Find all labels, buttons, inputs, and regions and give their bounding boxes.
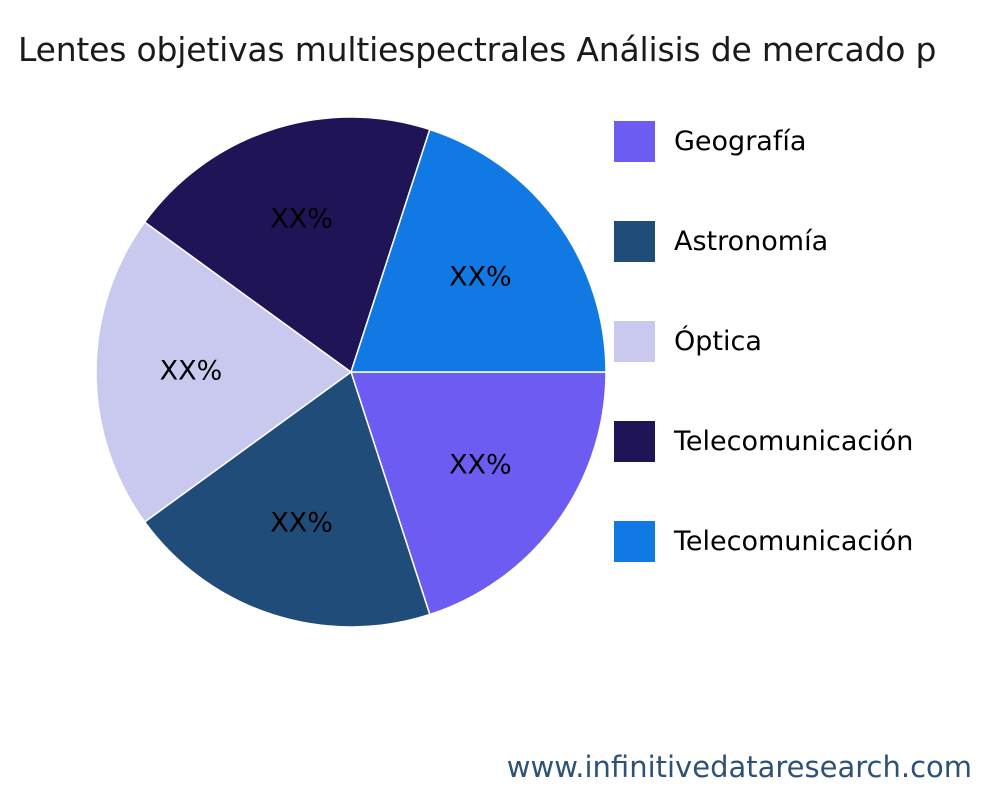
pie-slice-value-label: XX% bbox=[270, 508, 333, 539]
legend-item[interactable]: Telecomunicación bbox=[614, 421, 1000, 521]
pie-slice-value-label: XX% bbox=[270, 203, 333, 234]
legend-color-swatch bbox=[614, 321, 655, 362]
legend-item[interactable]: Óptica bbox=[614, 321, 1000, 421]
legend-color-swatch bbox=[614, 521, 655, 562]
pie-slice-value-label: XX% bbox=[160, 356, 223, 387]
legend-item[interactable]: Astronomía bbox=[614, 221, 1000, 321]
chart-page: Lentes objetivas multiespectrales Anális… bbox=[0, 0, 1000, 800]
legend-item-label: Geografía bbox=[674, 121, 806, 162]
source-url: www.infinitivedataresearch.com bbox=[0, 750, 972, 784]
legend-item-label: Telecomunicación bbox=[674, 521, 913, 562]
legend-color-swatch bbox=[614, 421, 655, 462]
legend-item[interactable]: Telecomunicación bbox=[614, 521, 1000, 621]
legend-item[interactable]: Geografía bbox=[614, 121, 1000, 221]
legend-item-label: Telecomunicación bbox=[674, 421, 913, 462]
legend-item-label: Astronomía bbox=[674, 221, 828, 262]
legend-color-swatch bbox=[614, 121, 655, 162]
chart-legend: GeografíaAstronomíaÓpticaTelecomunicació… bbox=[614, 121, 1000, 621]
legend-color-swatch bbox=[614, 221, 655, 262]
legend-item-label: Óptica bbox=[674, 321, 762, 362]
pie-slice-value-label: XX% bbox=[449, 262, 512, 293]
pie-slice-value-label: XX% bbox=[449, 450, 512, 481]
